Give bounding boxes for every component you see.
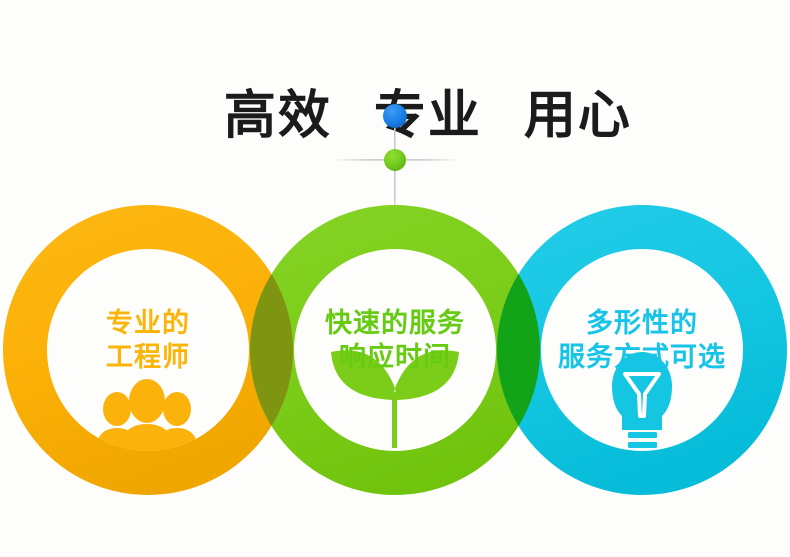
circle-label-green: 快速的服务 响应时间 bbox=[273, 306, 517, 374]
circle-label-orange-line2: 工程师 bbox=[28, 340, 268, 374]
circle-label-green-line2: 响应时间 bbox=[273, 340, 517, 374]
circle-label-orange: 专业的 工程师 bbox=[28, 306, 268, 374]
circle-label-green-line1: 快速的服务 bbox=[273, 306, 517, 340]
circle-label-cyan-line1: 多形性的 bbox=[515, 306, 769, 340]
circle-label-cyan-line2: 服务方式可选 bbox=[515, 340, 769, 374]
circle-label-cyan: 多形性的 服务方式可选 bbox=[515, 306, 769, 374]
infographic-canvas: 高效专业用心 bbox=[0, 0, 790, 557]
circle-label-orange-line1: 专业的 bbox=[28, 306, 268, 340]
venn-rings bbox=[0, 0, 790, 557]
